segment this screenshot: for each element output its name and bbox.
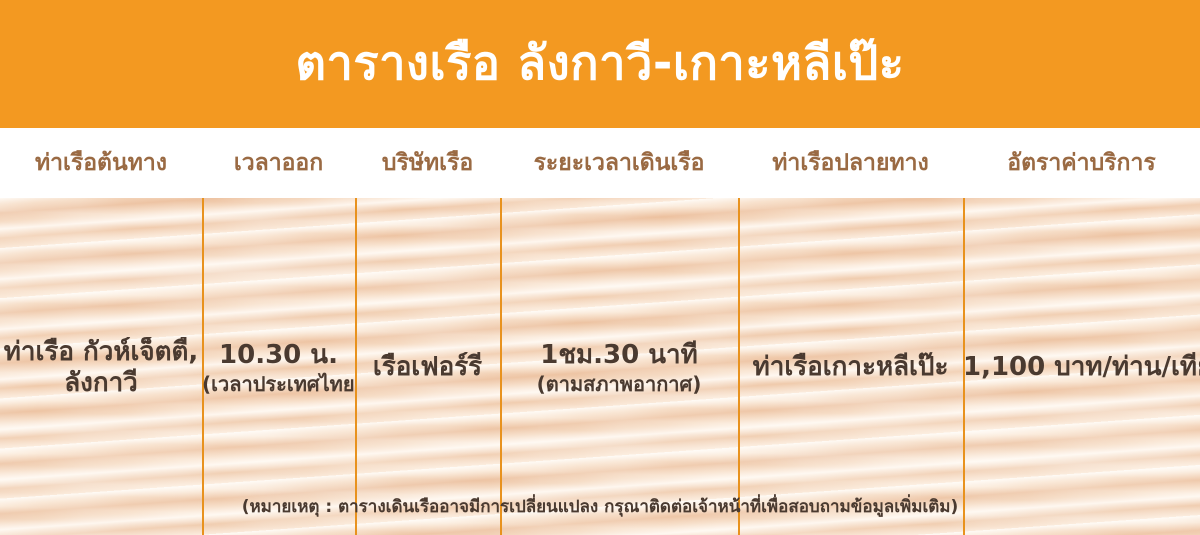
cell-destination-port-value: ท่าเรือเกาะหลีเป๊ะ	[738, 352, 963, 383]
cell-duration: 1ชม.30 นาที (ตามสภาพอากาศ)	[500, 340, 738, 395]
cell-departure-time-note: (เวลาประเทศไทย)	[202, 372, 355, 396]
cell-fare: 1,100 บาท/ท่าน/เที่ยว	[963, 352, 1200, 383]
cell-destination-port: ท่าเรือเกาะหลีเป๊ะ	[738, 352, 963, 383]
cell-ferry-company: เรือเฟอร์รี่	[355, 352, 500, 383]
ferry-schedule-infographic: ตารางเรือ ลังกาวี-เกาะหลีเป๊ะ ท่าเรือต้น…	[0, 0, 1200, 535]
cell-duration-value: 1ชม.30 นาที	[500, 340, 738, 371]
cell-fare-value: 1,100 บาท/ท่าน/เที่ยว	[963, 352, 1200, 383]
title-band: ตารางเรือ ลังกาวี-เกาะหลีเป๊ะ	[0, 0, 1200, 128]
cell-duration-note: (ตามสภาพอากาศ)	[500, 372, 738, 396]
cell-ferry-company-value: เรือเฟอร์รี่	[355, 352, 500, 383]
footnote-text: (หมายเหตุ : ตารางเดินเรืออาจมีการเปลี่ยน…	[0, 493, 1200, 520]
cell-origin-port-value: ท่าเรือ กัวห์เจ็ตตี้, ลังกาวี	[0, 337, 202, 399]
column-header-origin-port: ท่าเรือต้นทาง	[0, 150, 202, 176]
table-body: ท่าเรือ กัวห์เจ็ตตี้, ลังกาวี 10.30 น. (…	[0, 198, 1200, 535]
table-row: ท่าเรือ กัวห์เจ็ตตี้, ลังกาวี 10.30 น. (…	[0, 328, 1200, 408]
column-header-ferry-company: บริษัทเรือ	[355, 150, 500, 176]
cell-origin-port: ท่าเรือ กัวห์เจ็ตตี้, ลังกาวี	[0, 337, 202, 399]
table-header-row: ท่าเรือต้นทาง เวลาออก บริษัทเรือ ระยะเวล…	[0, 128, 1200, 198]
column-header-duration: ระยะเวลาเดินเรือ	[500, 150, 738, 176]
column-header-fare: อัตราค่าบริการ	[963, 150, 1200, 176]
page-title: ตารางเรือ ลังกาวี-เกาะหลีเป๊ะ	[296, 38, 905, 90]
column-header-destination-port: ท่าเรือปลายทาง	[738, 150, 963, 176]
column-header-departure-time: เวลาออก	[202, 150, 355, 176]
cell-departure-time: 10.30 น. (เวลาประเทศไทย)	[202, 340, 355, 395]
cell-departure-time-value: 10.30 น.	[202, 340, 355, 371]
